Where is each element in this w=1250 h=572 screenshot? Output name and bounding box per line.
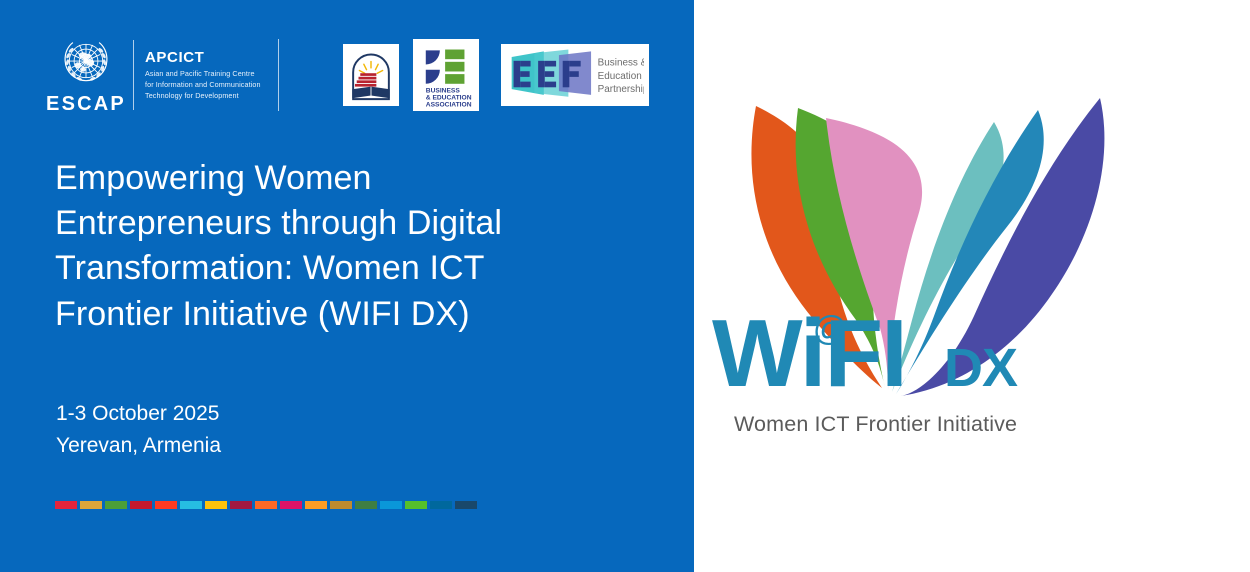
sdg-segment-14 (380, 501, 402, 509)
arch-book-institution-logo (343, 44, 399, 106)
un-escap-emblem-icon (56, 36, 116, 92)
wifi-dx-wordmark-icon: WiFI @ DX (712, 300, 1042, 410)
sdg-color-bar (55, 501, 477, 509)
wifi-dx-lockup: WiFI @ DX Women ICT Frontier Initiative (712, 300, 1072, 437)
sdg-segment-8 (230, 501, 252, 509)
escap-divider (133, 40, 134, 110)
bep-logo-icon: Business & Education Partnership (506, 47, 644, 103)
sdg-segment-12 (330, 501, 352, 509)
event-dates: 1-3 October 2025 (56, 398, 221, 430)
sdg-segment-6 (180, 501, 202, 509)
sdg-segment-5 (155, 501, 177, 509)
bea-line-2: & EDUCATION (426, 95, 472, 102)
sdg-segment-2 (80, 501, 102, 509)
un-escap-apcict-logo: ESCAP APCICT Asian and Pacific Training … (50, 36, 265, 114)
bep-line-2: Education (598, 71, 642, 82)
escap-mark: ESCAP (50, 36, 122, 114)
bea-logo-icon: BUSINESS & EDUCATION ASSOCIATION (417, 42, 475, 108)
partner-logo-strip: ESCAP APCICT Asian and Pacific Training … (50, 36, 649, 114)
sdg-segment-17 (455, 501, 477, 509)
sdg-segment-1 (55, 501, 77, 509)
logo-strip-divider (278, 39, 279, 111)
sdg-segment-4 (130, 501, 152, 509)
business-education-partnership-logo: Business & Education Partnership (501, 44, 649, 106)
event-meta: 1-3 October 2025 Yerevan, Armenia (56, 398, 221, 462)
sdg-segment-11 (305, 501, 327, 509)
event-title: Empowering Women Entrepreneurs through D… (55, 156, 595, 337)
sdg-segment-9 (255, 501, 277, 509)
wifi-dx-suffix: DX (944, 338, 1018, 398)
apcict-title: APCICT (145, 50, 265, 65)
wifi-at-symbol: @ (813, 310, 848, 348)
arch-book-icon (346, 47, 396, 103)
bep-line-3: Partnership (598, 84, 644, 95)
wifi-wordmark-text: WiFI (712, 300, 906, 407)
wifi-tagline: Women ICT Frontier Initiative (734, 412, 1072, 437)
business-education-association-logo: BUSINESS & EDUCATION ASSOCIATION (413, 39, 479, 111)
wifi-dx-logo-area: WiFI @ DX Women ICT Frontier Initiative (694, 0, 1250, 572)
escap-wordmark: ESCAP (46, 94, 126, 114)
bep-line-1: Business & (598, 58, 644, 69)
bea-line-1: BUSINESS (426, 88, 461, 95)
apcict-subtitle: Asian and Pacific Training Centre for In… (145, 69, 265, 102)
event-banner: ESCAP APCICT Asian and Pacific Training … (0, 0, 1250, 572)
sdg-segment-13 (355, 501, 377, 509)
event-location: Yerevan, Armenia (56, 430, 221, 462)
bea-line-3: ASSOCIATION (426, 102, 472, 108)
sdg-segment-3 (105, 501, 127, 509)
sdg-segment-7 (205, 501, 227, 509)
sdg-segment-15 (405, 501, 427, 509)
sdg-segment-16 (430, 501, 452, 509)
sdg-segment-10 (280, 501, 302, 509)
apcict-text-block: APCICT Asian and Pacific Training Centre… (145, 48, 265, 102)
